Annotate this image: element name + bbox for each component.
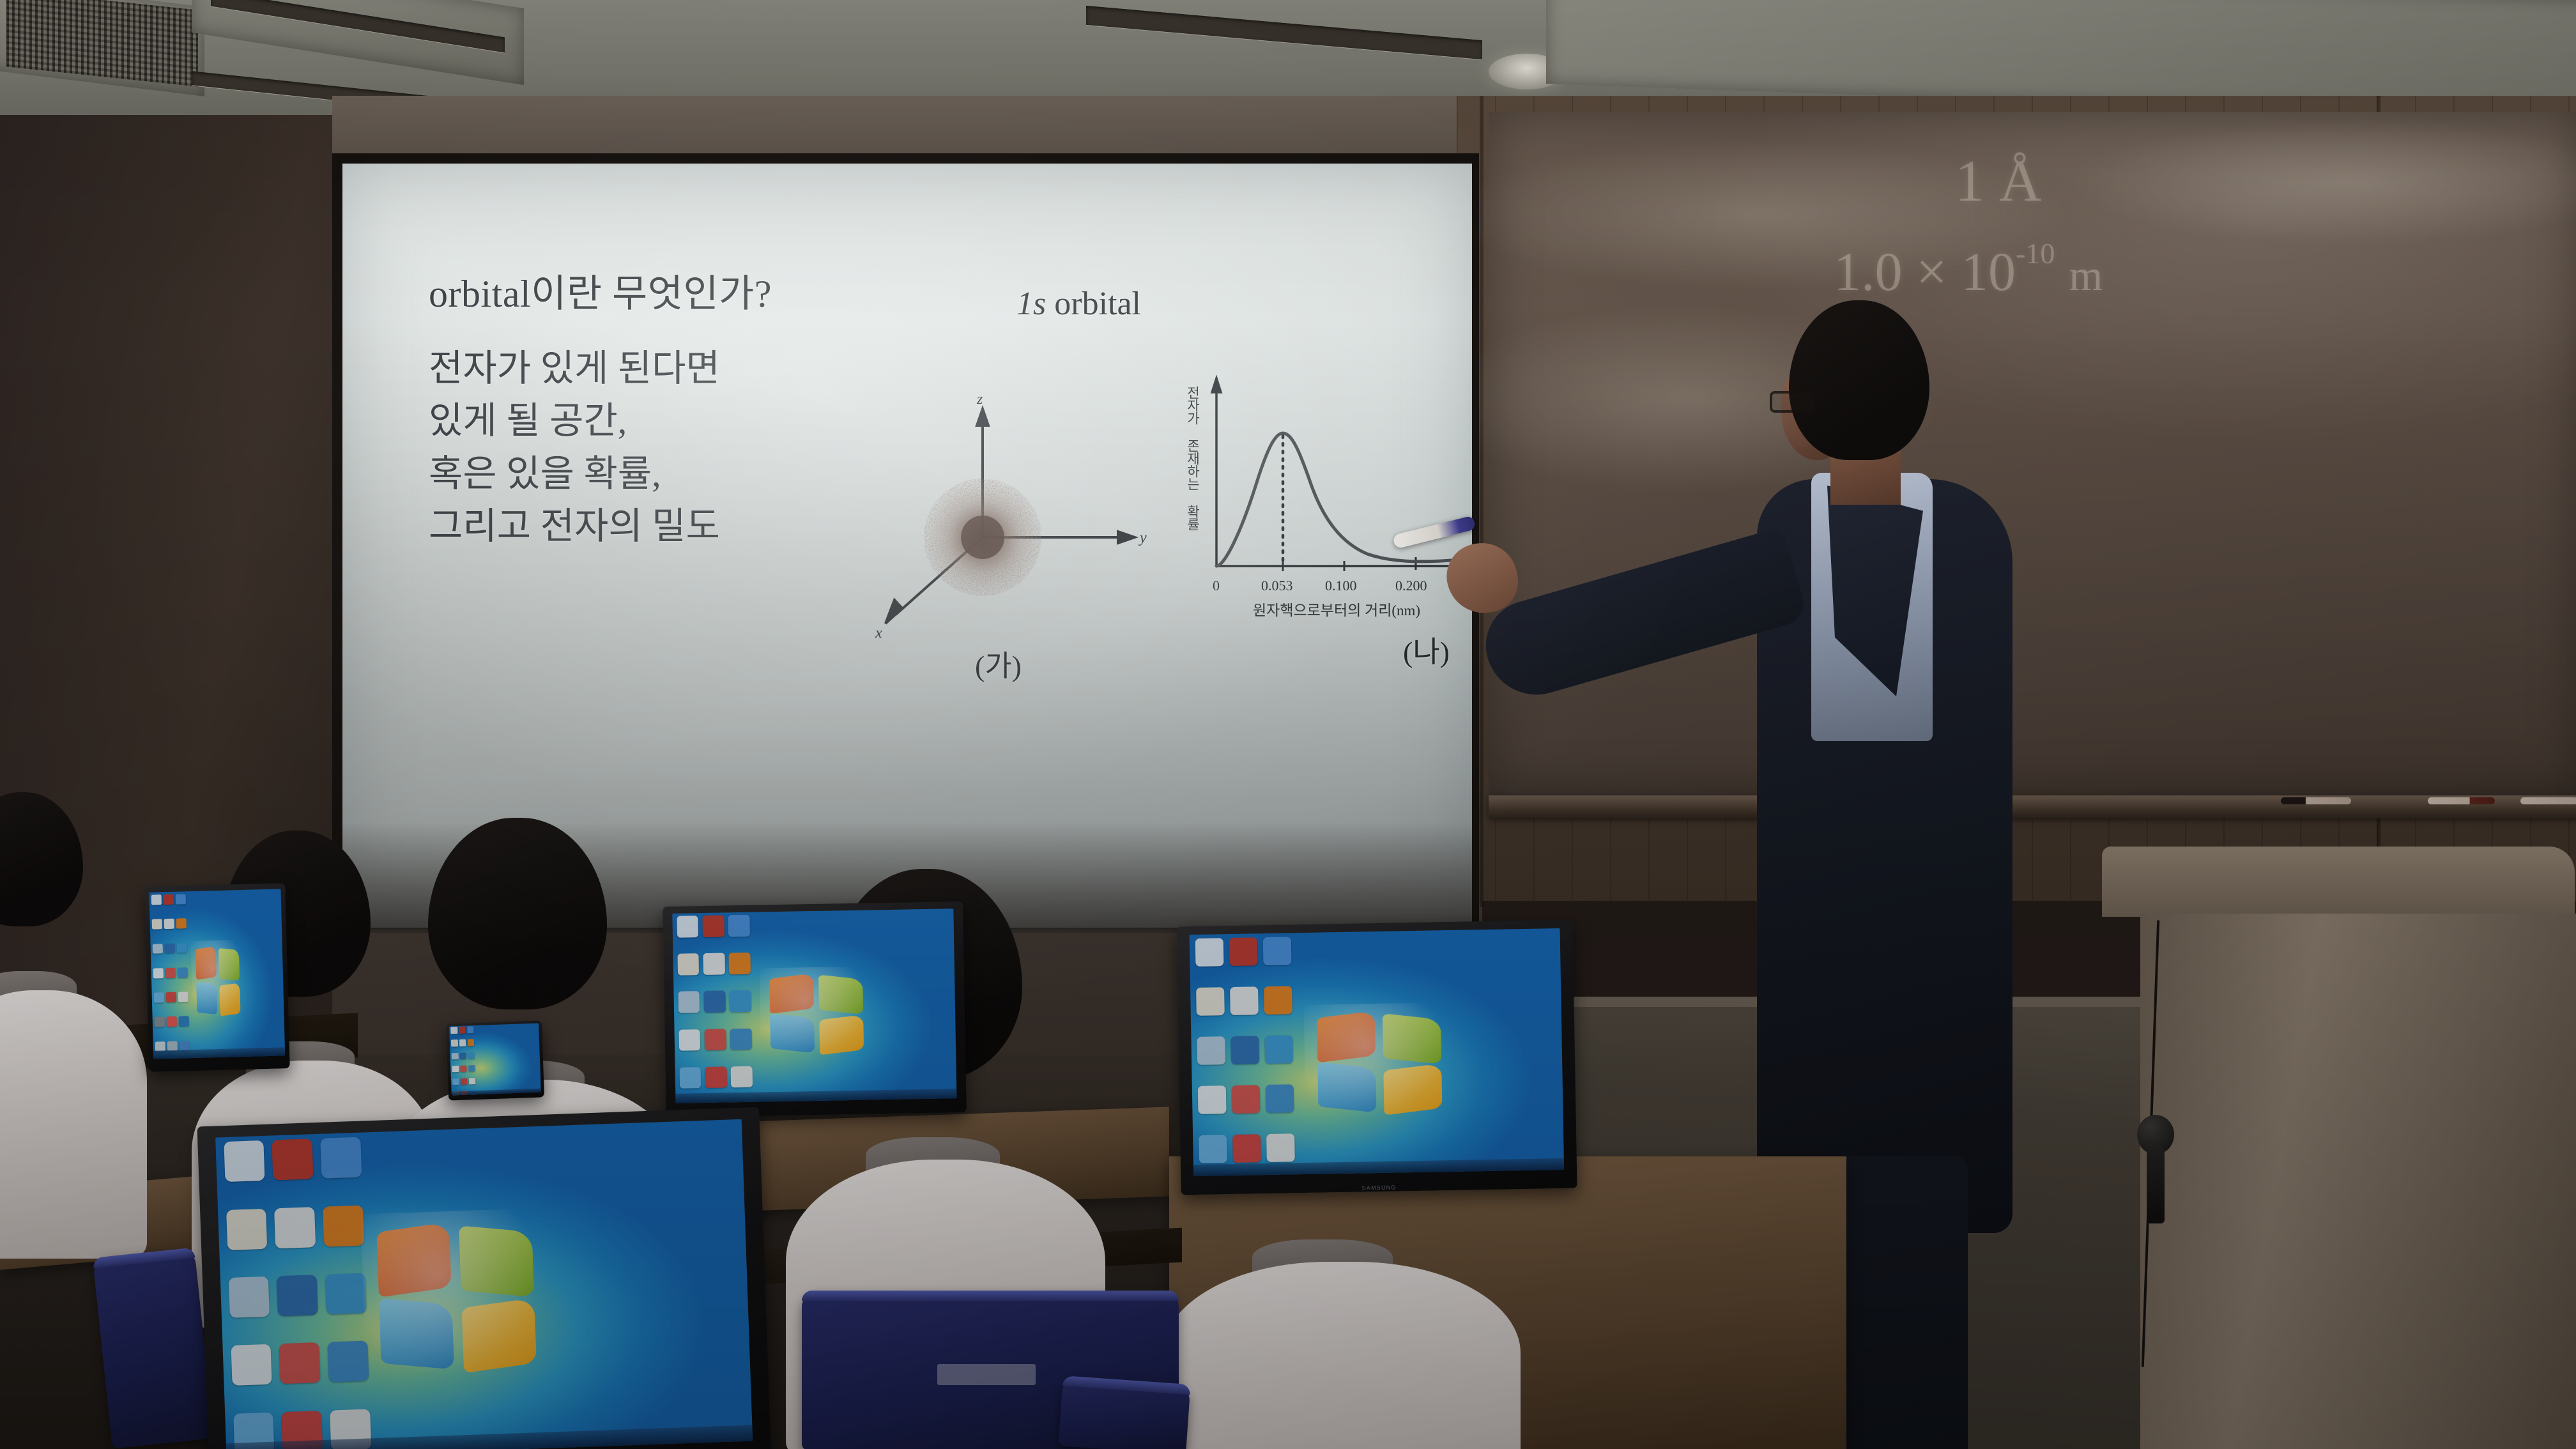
monitor-5-desktop-icons[interactable] [450,1027,476,1094]
desktop-icon[interactable] [176,943,187,953]
plot-svg [1186,374,1472,585]
desktop-icon[interactable] [705,1029,726,1050]
chair-center-label [937,1364,1035,1385]
plot-tick-0053: 0.053 [1261,578,1293,594]
desktop-icon[interactable] [165,968,176,978]
monitor-3-windows-logo-icon [1317,1013,1445,1116]
desktop-icon[interactable] [166,992,176,1002]
desktop-icon[interactable] [459,1052,466,1059]
desktop-icon[interactable] [277,1275,318,1316]
monitor-2-screen[interactable] [672,908,956,1103]
slide-body-line-3: 혹은 있을 확률, [429,448,720,500]
monitor-4-desktop-icons[interactable] [224,1137,371,1449]
chair-left-front[interactable] [1058,1376,1190,1449]
desktop-icon[interactable] [677,953,699,975]
desktop-icon[interactable] [228,1276,270,1318]
desktop-icon[interactable] [152,919,162,930]
slide-body-line-1: 전자가 있게 된다면 [429,342,720,395]
electron-cloud-svg: z y x [873,387,1167,655]
figure-electron-cloud-3d: z y x (가) [873,387,1167,655]
desktop-icon[interactable] [327,1341,369,1383]
desktop-icon[interactable] [1230,1036,1259,1064]
monitor-3-brand-label: SAMSUNG [1362,1184,1397,1191]
monitor-4[interactable] [197,1107,771,1449]
monitor-2-windows-logo-icon [769,974,866,1055]
student-1-torso [0,990,147,1259]
desktop-icon[interactable] [679,1067,701,1089]
desktop-icon[interactable] [1263,937,1292,965]
desktop-icon[interactable] [459,1039,466,1046]
desktop-icon[interactable] [226,1209,268,1250]
desktop-icon[interactable] [231,1344,272,1386]
monitor-4-screen[interactable] [215,1119,753,1449]
slide-body-line-2: 있게 될 공간, [429,395,720,447]
axis-label-z: z [976,391,983,408]
desktop-icon[interactable] [461,1078,468,1085]
desktop-icon[interactable] [320,1137,362,1179]
marker-red-icon[interactable] [2428,797,2495,804]
desktop-icon[interactable] [730,990,751,1012]
student-1 [0,779,153,1227]
desktop-icon[interactable] [731,1066,753,1088]
orbital-label-rest: orbital [1046,286,1141,322]
monitor-3[interactable]: SAMSUNG [1176,920,1577,1195]
desktop-icon[interactable] [1232,1085,1261,1114]
whiteboard-marker-tray [1489,795,2576,818]
slide-title: orbital이란 무엇인가? [429,263,772,318]
monitor-1-desktop-icons[interactable] [151,894,190,1055]
whiteboard-glare-2 [2064,118,2576,246]
slide-body: 전자가 있게 된다면 있게 될 공간, 혹은 있을 확률, 그리고 전자의 밀도 [429,342,720,553]
monitor-5[interactable] [446,1020,544,1100]
desktop-icon[interactable] [325,1273,367,1315]
desktop-icon[interactable] [1266,1084,1294,1113]
desktop-icon[interactable] [151,894,162,905]
plot-y-axis-label: 전자가 존재하는 확률 [1186,386,1199,530]
slide-body-line-4: 그리고 전자의 밀도 [429,500,720,553]
whiteboard: 1 Å 1.0 × 10-10m [1489,112,2576,795]
monitor-1[interactable] [144,883,290,1072]
desktop-icon[interactable] [678,992,700,1013]
desktop-icon[interactable] [452,1078,459,1085]
desktop-icon[interactable] [154,992,164,1002]
desktop-icon[interactable] [1264,986,1292,1015]
orbital-label: 1s orbital [1016,285,1141,323]
desktop-icon[interactable] [177,967,187,977]
monitor-1-screen[interactable] [149,889,286,1059]
student-1-head [0,792,83,926]
desktop-icon[interactable] [155,1017,165,1027]
desktop-icon[interactable] [450,1027,457,1034]
projection-screen: orbital이란 무엇인가? 전자가 있게 된다면 있게 될 공간, 혹은 있… [342,164,1472,928]
monitor-2[interactable] [663,901,967,1117]
whiteboard-conversion-unit: m [2069,251,2103,300]
desktop-icon[interactable] [703,953,724,975]
desktop-icon[interactable] [730,1028,752,1050]
desktop-icon[interactable] [467,1039,474,1046]
desktop-icon[interactable] [167,1016,177,1027]
desktop-icon[interactable] [274,1207,316,1248]
desktop-icon[interactable] [176,919,186,929]
desktop-icon[interactable] [1265,1035,1294,1064]
desktop-icon[interactable] [323,1205,364,1246]
monitor-1-windows-logo-icon [195,947,242,1018]
desktop-icon[interactable] [459,1027,466,1034]
desktop-icon[interactable] [164,919,174,929]
student-3-head [428,818,607,1009]
axis-label-y: y [1138,530,1147,546]
desktop-icon[interactable] [178,1016,188,1027]
figure-a-caption: (가) [975,643,1022,685]
whiteboard-conversion-exponent: -10 [2016,237,2055,270]
desktop-icon[interactable] [729,953,751,974]
desktop-icon[interactable] [705,1066,727,1088]
desktop-icon[interactable] [224,1140,265,1182]
desktop-icon[interactable] [175,894,185,904]
desktop-icon[interactable] [165,943,175,953]
figure-radial-probability-plot: 전자가 존재하는 확률 [1186,374,1472,662]
desktop-icon[interactable] [1232,1134,1261,1163]
teacher-glasses-icon [1770,391,1814,413]
desktop-icon[interactable] [164,894,174,905]
desktop-icon[interactable] [451,1053,458,1060]
desktop-icon[interactable] [279,1343,321,1384]
desktop-icon[interactable] [678,1029,700,1051]
desktop-icon[interactable] [469,1078,476,1085]
desktop-icon[interactable] [153,944,163,954]
monitor-2-desktop-icons[interactable] [677,915,753,1098]
plot-tick-0200: 0.200 [1395,578,1427,594]
marker-black-icon[interactable] [2281,797,2351,804]
chair-left[interactable] [93,1247,214,1448]
desktop-icon[interactable] [702,915,724,937]
plot-x-axis-label: 원자핵으로부터의 거리(nm) [1253,598,1420,620]
desktop-icon[interactable] [1196,987,1225,1016]
desktop-icon[interactable] [1195,938,1223,967]
desktop-icon[interactable] [1266,1133,1295,1162]
monitor-5-screen[interactable] [449,1023,541,1095]
classroom-photo: 1 Å 1.0 × 10-10m orbital이란 무엇인가? 전자가 있게 … [0,0,2576,1449]
whiteboard-angstrom-line: 1 Å [1955,147,2041,215]
monitor-3-desktop-icons[interactable] [1195,937,1295,1170]
chair-center-rim [802,1291,1179,1301]
desktop-icon[interactable] [452,1066,459,1073]
desktop-icon[interactable] [451,1039,458,1046]
desktop-icon[interactable] [1199,1135,1227,1163]
desktop-icon[interactable] [677,916,698,937]
student-5-torso [1163,1262,1521,1449]
podium-top [2102,847,2575,917]
axis-label-x: x [875,625,882,641]
desktop-icon[interactable] [178,992,188,1002]
desktop-icon[interactable] [1197,1036,1225,1065]
desktop-icon[interactable] [468,1065,475,1072]
desktop-icon[interactable] [468,1052,475,1059]
desktop-icon[interactable] [272,1139,313,1181]
desktop-icon[interactable] [1229,937,1258,966]
desktop-icon[interactable] [1230,986,1259,1015]
desktop-icon[interactable] [460,1065,467,1072]
desktop-icon[interactable] [728,915,750,937]
plot-tick-0100: 0.100 [1325,578,1357,594]
orbital-label-italic: 1s [1016,286,1046,322]
plot-tick-0: 0 [1213,578,1220,594]
desktop-icon[interactable] [153,968,164,978]
teacher-hair [1789,300,1929,460]
podium-body [2140,914,2576,1449]
monitor-4-windows-logo-icon [376,1223,539,1376]
microphone-handle[interactable] [2147,1147,2165,1223]
desktop-icon[interactable] [704,991,726,1013]
desktop-icon[interactable] [467,1027,474,1034]
monitor-3-screen[interactable] [1189,928,1564,1176]
marker-blue-icon[interactable] [2520,797,2576,804]
figure-b-caption: (나) [1403,629,1450,671]
desktop-icon[interactable] [1197,1085,1226,1114]
